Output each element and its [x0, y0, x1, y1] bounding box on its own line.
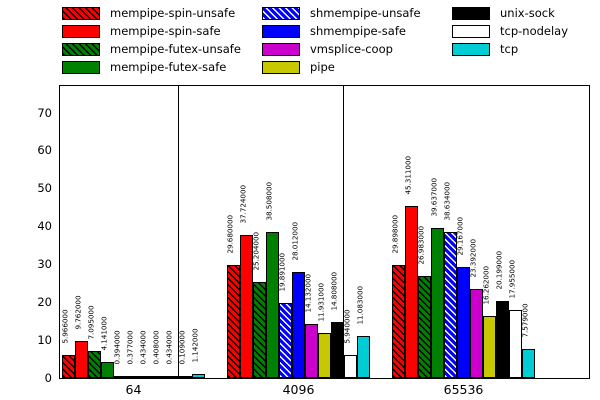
- bar-mempipe-futex-safe[interactable]: 4.141000: [101, 362, 114, 378]
- bar-value-label: 38.508000: [264, 182, 273, 221]
- bar-value-label: 0.394000: [112, 330, 121, 364]
- bar-value-label: 25.204000: [251, 232, 260, 271]
- bar-slot: 7.579000: [522, 86, 535, 378]
- bar-value-label: 20.199000: [494, 251, 503, 290]
- y-axis-tick-label: 30: [12, 257, 52, 271]
- bar-shmempipe-safe[interactable]: 29.167000: [457, 267, 470, 378]
- y-axis-tick-label: 60: [12, 143, 52, 157]
- bar-tcp[interactable]: 11.083000: [357, 336, 370, 378]
- plot-area: 5.9660009.7620007.0950004.1410000.394000…: [60, 86, 589, 378]
- legend-label: mempipe-futex-unsafe: [110, 43, 241, 56]
- bar-value-label: 0.377000: [125, 330, 134, 364]
- legend-swatch-icon: [262, 61, 300, 74]
- bar-vmsplice-coop[interactable]: 0.434000: [140, 376, 153, 378]
- bar-slot: 29.898000: [392, 86, 405, 378]
- bar-value-label: 29.680000: [225, 215, 234, 254]
- bar-slot: 11.931000: [318, 86, 331, 378]
- bar-value-label: 45.311000: [403, 156, 412, 195]
- legend-item-shmempipe-safe: shmempipe-safe: [262, 22, 452, 40]
- bar-mempipe-spin-unsafe[interactable]: 29.680000: [227, 265, 240, 378]
- bar-slot: 16.262000: [483, 86, 496, 378]
- bar-unix-sock[interactable]: 20.199000: [496, 301, 509, 378]
- legend-label: tcp: [500, 43, 518, 56]
- bar-mempipe-futex-unsafe[interactable]: 7.095000: [88, 351, 101, 378]
- chart-legend: mempipe-spin-unsafemempipe-spin-safememp…: [62, 4, 590, 78]
- bar-shmempipe-safe[interactable]: 0.377000: [127, 376, 140, 378]
- bar-mempipe-spin-unsafe[interactable]: 5.966000: [62, 355, 75, 378]
- legend-item-tcp: tcp: [452, 40, 590, 58]
- legend-label: unix-sock: [500, 7, 555, 20]
- bar-value-label: 29.898000: [390, 215, 399, 254]
- legend-swatch-icon: [62, 43, 100, 56]
- bar-value-label: 11.931000: [316, 283, 325, 322]
- legend-label: mempipe-futex-safe: [110, 61, 226, 74]
- x-axis-tick-label: 64: [126, 382, 142, 397]
- bar-value-label: 39.637000: [429, 178, 438, 217]
- bar-mempipe-futex-unsafe[interactable]: 25.204000: [253, 282, 266, 378]
- bar-slot: 25.204000: [253, 86, 266, 378]
- legend-swatch-icon: [62, 25, 100, 38]
- bar-slot: 29.167000: [457, 86, 470, 378]
- bar-mempipe-futex-unsafe[interactable]: 26.983000: [418, 276, 431, 378]
- legend-swatch-icon: [262, 7, 300, 20]
- legend-label: shmempipe-safe: [310, 25, 406, 38]
- bar-slot: 14.132000: [305, 86, 318, 378]
- bar-value-label: 19.891000: [277, 253, 286, 292]
- bar-slot: 28.012000: [292, 86, 305, 378]
- bar-slot: 5.966000: [62, 86, 75, 378]
- bar-slot: 38.508000: [266, 86, 279, 378]
- legend-label: shmempipe-unsafe: [310, 7, 421, 20]
- legend-label: tcp-nodelay: [500, 25, 568, 38]
- bar-tcp[interactable]: 7.579000: [522, 349, 535, 378]
- bar-value-label: 17.955000: [507, 260, 516, 299]
- bar-value-label: 11.083000: [355, 286, 364, 325]
- bar-mempipe-spin-safe[interactable]: 9.762000: [75, 341, 88, 378]
- legend-swatch-icon: [262, 43, 300, 56]
- bar-pipe[interactable]: 11.931000: [318, 333, 331, 378]
- y-axis-tick-label: 40: [12, 219, 52, 233]
- bar-value-label: 7.579000: [520, 304, 529, 338]
- bar-value-label: 7.095000: [86, 306, 95, 340]
- bar-slot: 39.637000: [431, 86, 444, 378]
- legend-item-shmempipe-unsafe: shmempipe-unsafe: [262, 4, 452, 22]
- legend-item-mempipe-futex-safe: mempipe-futex-safe: [62, 58, 262, 76]
- legend-label: pipe: [310, 61, 335, 74]
- legend-item-vmsplice-coop: vmsplice-coop: [262, 40, 452, 58]
- bar-mempipe-spin-unsafe[interactable]: 29.898000: [392, 265, 405, 378]
- x-axis-tick-label: 65536: [444, 382, 484, 397]
- legend-item-mempipe-spin-unsafe: mempipe-spin-unsafe: [62, 4, 262, 22]
- bar-value-label: 5.940000: [342, 310, 351, 344]
- legend-label: vmsplice-coop: [310, 43, 393, 56]
- bar-value-label: 37.724000: [238, 185, 247, 224]
- bar-value-label: 0.434000: [138, 330, 147, 364]
- bar-group-bars: 5.9660009.7620007.0950004.1410000.394000…: [62, 86, 205, 378]
- bar-value-label: 5.966000: [60, 310, 69, 344]
- bar-slot: 26.983000: [418, 86, 431, 378]
- bar-value-label: 29.167000: [455, 217, 464, 256]
- legend-swatch-icon: [452, 25, 490, 38]
- bar-value-label: 1.142000: [190, 328, 199, 362]
- bar-value-label: 26.983000: [416, 226, 425, 265]
- bar-shmempipe-unsafe[interactable]: 0.394000: [114, 376, 127, 378]
- bar-pipe[interactable]: 0.408000: [153, 376, 166, 378]
- bar-unix-sock[interactable]: 0.434000: [166, 376, 179, 378]
- x-axis-tick-label: 4096: [283, 382, 315, 397]
- legend-item-unix-sock: unix-sock: [452, 4, 590, 22]
- y-axis-tick-label: 70: [12, 106, 52, 120]
- bar-slot: 20.199000: [496, 86, 509, 378]
- legend-swatch-icon: [452, 43, 490, 56]
- y-axis-tick-label: 20: [12, 295, 52, 309]
- bar-slot: 1.142000: [192, 86, 205, 378]
- bar-tcp[interactable]: 1.142000: [192, 374, 205, 378]
- bar-tcp-nodelay[interactable]: 0.109000: [179, 376, 192, 378]
- bar-slot: 23.392000: [470, 86, 483, 378]
- bar-value-label: 9.762000: [73, 295, 82, 329]
- bar-group-bars: 29.89800045.31100026.98300039.63700038.6…: [392, 86, 535, 378]
- bar-value-label: 0.434000: [164, 330, 173, 364]
- bar-value-label: 0.109000: [177, 330, 186, 364]
- bar-slot: 5.940000: [344, 86, 357, 378]
- bar-group-bars: 29.68000037.72400025.20400038.50800019.8…: [227, 86, 370, 378]
- legend-item-pipe: pipe: [262, 58, 452, 76]
- bar-value-label: 23.392000: [468, 239, 477, 278]
- bar-shmempipe-unsafe[interactable]: 19.891000: [279, 303, 292, 378]
- bar-value-label: 14.132000: [303, 274, 312, 313]
- bar-slot: 29.680000: [227, 86, 240, 378]
- legend-item-mempipe-spin-safe: mempipe-spin-safe: [62, 22, 262, 40]
- legend-item-mempipe-futex-unsafe: mempipe-futex-unsafe: [62, 40, 262, 58]
- bar-mempipe-futex-safe[interactable]: 39.637000: [431, 228, 444, 378]
- y-axis-tick-label: 50: [12, 181, 52, 195]
- legend-swatch-icon: [452, 7, 490, 20]
- bar-value-label: 38.634000: [442, 181, 451, 220]
- legend-swatch-icon: [62, 61, 100, 74]
- legend-swatch-icon: [262, 25, 300, 38]
- bar-slot: 11.083000: [357, 86, 370, 378]
- legend-swatch-icon: [62, 7, 100, 20]
- bar-value-label: 4.141000: [99, 317, 108, 351]
- bar-value-label: 16.262000: [481, 266, 490, 305]
- bar-value-label: 0.408000: [151, 330, 160, 364]
- y-axis-tick-label: 10: [12, 333, 52, 347]
- legend-item-tcp-nodelay: tcp-nodelay: [452, 22, 590, 40]
- y-axis-tick-label: 0: [12, 371, 52, 385]
- bar-vmsplice-coop[interactable]: 14.132000: [305, 324, 318, 378]
- bar-value-label: 28.012000: [290, 222, 299, 261]
- legend-label: mempipe-spin-safe: [110, 25, 221, 38]
- bar-pipe[interactable]: 16.262000: [483, 316, 496, 378]
- legend-label: mempipe-spin-unsafe: [110, 7, 235, 20]
- bar-tcp-nodelay[interactable]: 5.940000: [344, 355, 357, 378]
- bar-value-label: 14.808000: [329, 272, 338, 311]
